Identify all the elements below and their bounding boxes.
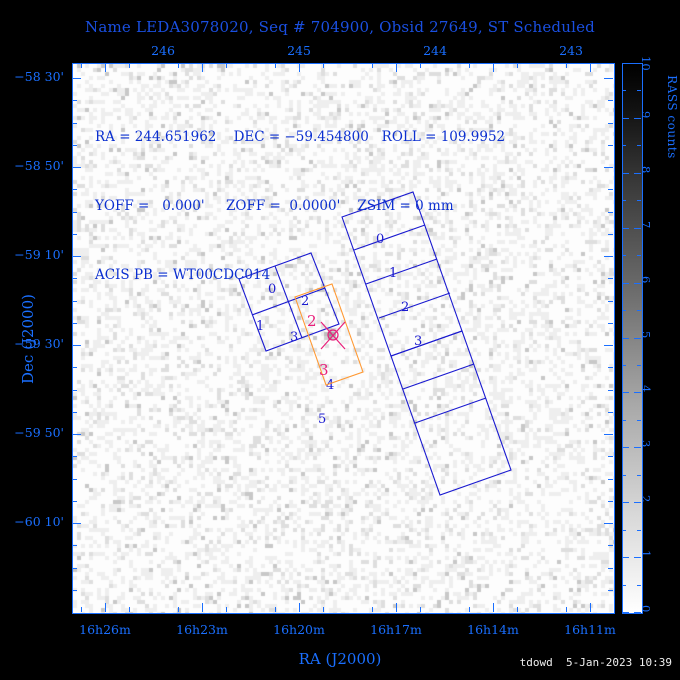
y-tick-label-0: −58 30' bbox=[14, 69, 64, 84]
x-top-tick-label-1: 245 bbox=[287, 43, 311, 58]
y-axis-title: Dec (J2000) bbox=[19, 259, 37, 419]
x-top-tick-label-2: 244 bbox=[423, 43, 447, 58]
param-line-offsets: YOFF = 0.000' ZOFF = 0.0000' ZSIM = 0 mm bbox=[95, 195, 505, 218]
footer-timestamp: tdowd 5-Jan-2023 10:39 bbox=[520, 656, 672, 669]
x-tick-label-1: 16h23m bbox=[176, 622, 228, 637]
x-tick-label-5: 16h11m bbox=[564, 622, 616, 637]
x-tick-label-4: 16h14m bbox=[467, 622, 519, 637]
y-tick-label-4: −59 50' bbox=[14, 425, 64, 440]
colorbar-title: RASS counts bbox=[665, 37, 679, 197]
observation-parameters: RA = 244.651962 DEC = −59.454800 ROLL = … bbox=[95, 80, 505, 310]
x-tick-label-3: 16h17m bbox=[370, 622, 422, 637]
x-tick-label-0: 16h26m bbox=[79, 622, 131, 637]
x-tick-label-2: 16h20m bbox=[273, 622, 325, 637]
y-tick-label-5: −60 10' bbox=[14, 514, 64, 529]
y-tick-label-1: −58 50' bbox=[14, 158, 64, 173]
page-title: Name LEDA3078020, Seq # 704900, Obsid 27… bbox=[0, 18, 680, 36]
x-top-tick-label-0: 246 bbox=[151, 43, 175, 58]
x-top-tick-label-3: 243 bbox=[559, 43, 583, 58]
colorbar[interactable] bbox=[622, 63, 643, 614]
param-line-acis-pb: ACIS PB = WT00CDC014 bbox=[95, 264, 505, 287]
param-line-ra-dec-roll: RA = 244.651962 DEC = −59.454800 ROLL = … bbox=[95, 126, 505, 149]
